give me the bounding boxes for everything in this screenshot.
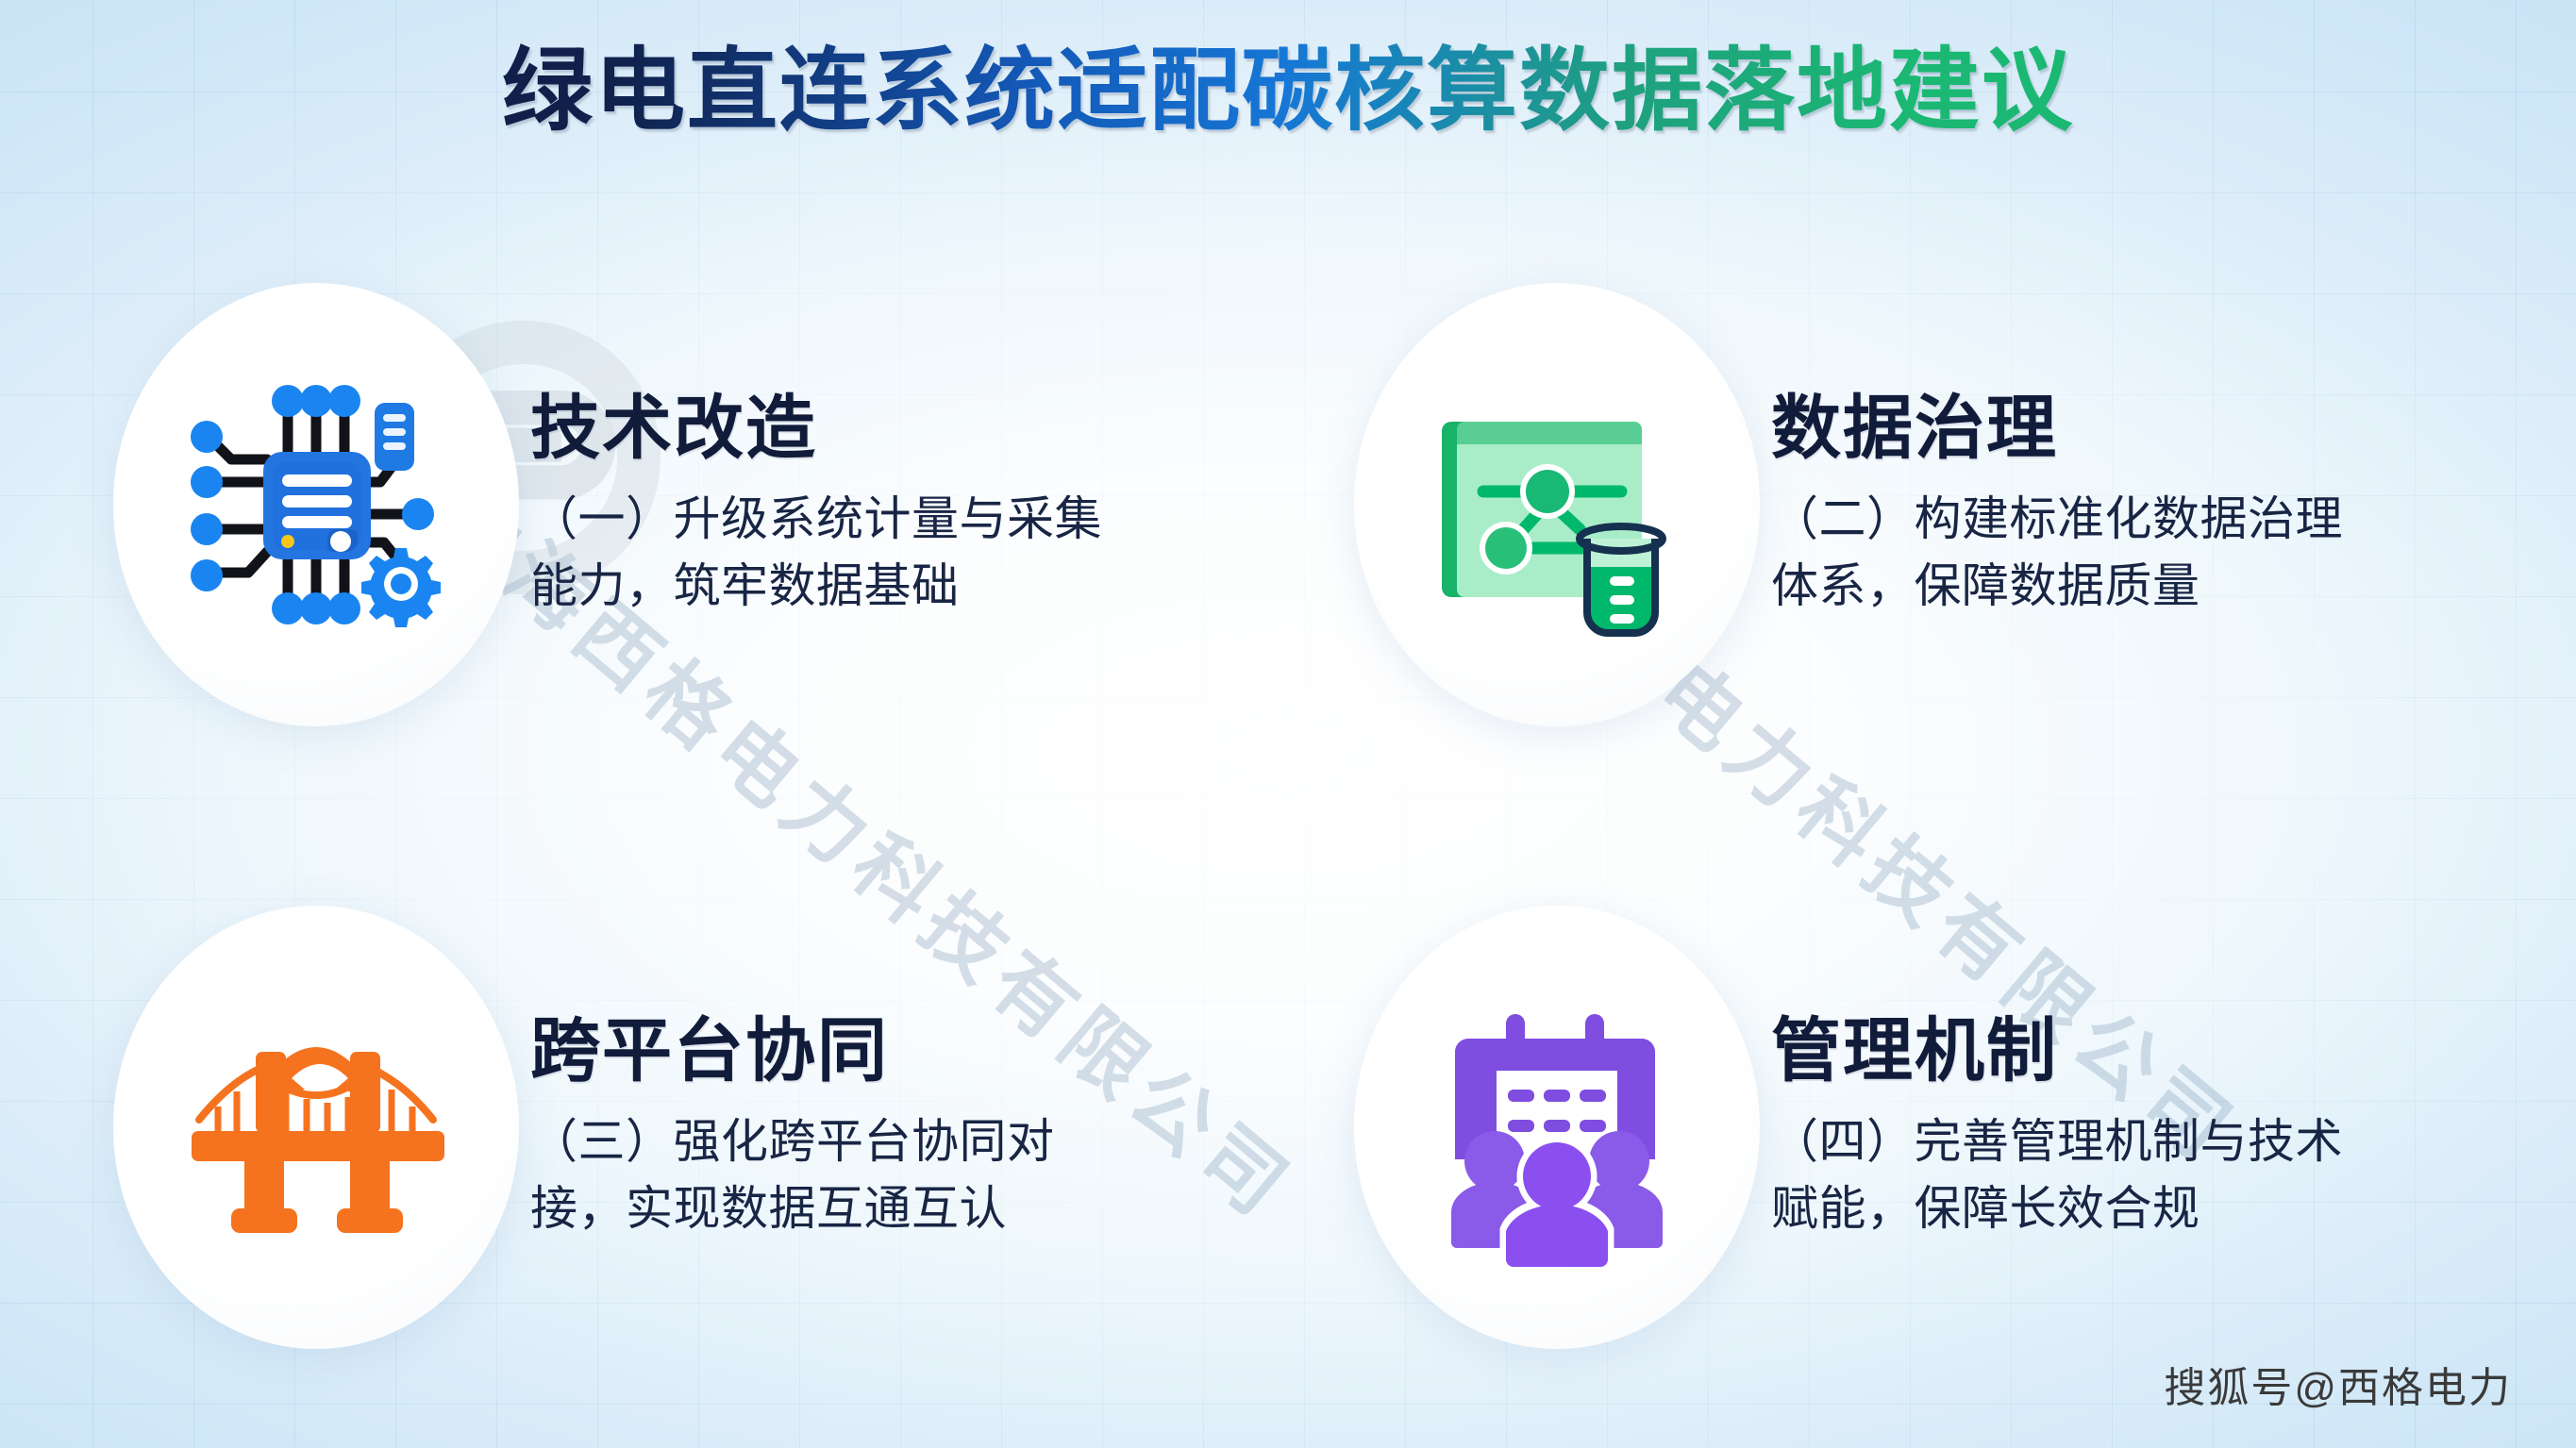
bridge-exchange-icon <box>165 976 467 1278</box>
card-description: （一）升级系统计量与采集能力，筑牢数据基础 <box>530 486 1134 620</box>
card-data-governance[interactable]: 数据治理 （二）构建标准化数据治理体系，保障数据质量 <box>1354 283 2375 726</box>
card-title: 技术改造 <box>530 390 1134 468</box>
card-text-technical-upgrade: 技术改造 （一）升级系统计量与采集能力，筑牢数据基础 <box>530 390 1134 621</box>
icon-circle-cross-platform <box>113 906 519 1349</box>
card-text-management-mechanism: 管理机制 （四）完善管理机制与技术赋能，保障长效合规 <box>1771 1012 2375 1243</box>
card-title: 数据治理 <box>1771 390 2375 468</box>
microchip-circuit-icon <box>165 354 467 656</box>
icon-circle-data-governance <box>1354 283 1760 726</box>
card-management-mechanism[interactable]: 管理机制 （四）完善管理机制与技术赋能，保障长效合规 <box>1354 906 2375 1349</box>
data-board-beaker-icon <box>1406 354 1708 656</box>
card-technical-upgrade[interactable]: 技术改造 （一）升级系统计量与采集能力，筑牢数据基础 <box>113 283 1134 726</box>
infographic-canvas: 绿电直连系统适配碳核算数据落地建议 珠海西格电力科技有限公司 珠海西格电力科技有… <box>0 0 2576 1448</box>
card-cross-platform-collaboration[interactable]: 跨平台协同 （三）强化跨平台协同对接，实现数据互通互认 <box>113 906 1134 1349</box>
card-title: 跨平台协同 <box>530 1012 1134 1090</box>
icon-circle-technical-upgrade <box>113 283 519 726</box>
card-text-data-governance: 数据治理 （二）构建标准化数据治理体系，保障数据质量 <box>1771 390 2375 621</box>
card-description: （二）构建标准化数据治理体系，保障数据质量 <box>1771 486 2375 620</box>
icon-circle-management-mechanism <box>1354 906 1760 1349</box>
card-description: （三）强化跨平台协同对接，实现数据互通互认 <box>530 1108 1134 1242</box>
card-text-cross-platform: 跨平台协同 （三）强化跨平台协同对接，实现数据互通互认 <box>530 1012 1134 1243</box>
card-title: 管理机制 <box>1771 1012 2375 1090</box>
card-description: （四）完善管理机制与技术赋能，保障长效合规 <box>1771 1108 2375 1242</box>
page-title: 绿电直连系统适配碳核算数据落地建议 <box>0 38 2576 144</box>
attribution-label: 搜狐号@西格电力 <box>2164 1354 2512 1414</box>
calendar-team-icon <box>1406 976 1708 1278</box>
